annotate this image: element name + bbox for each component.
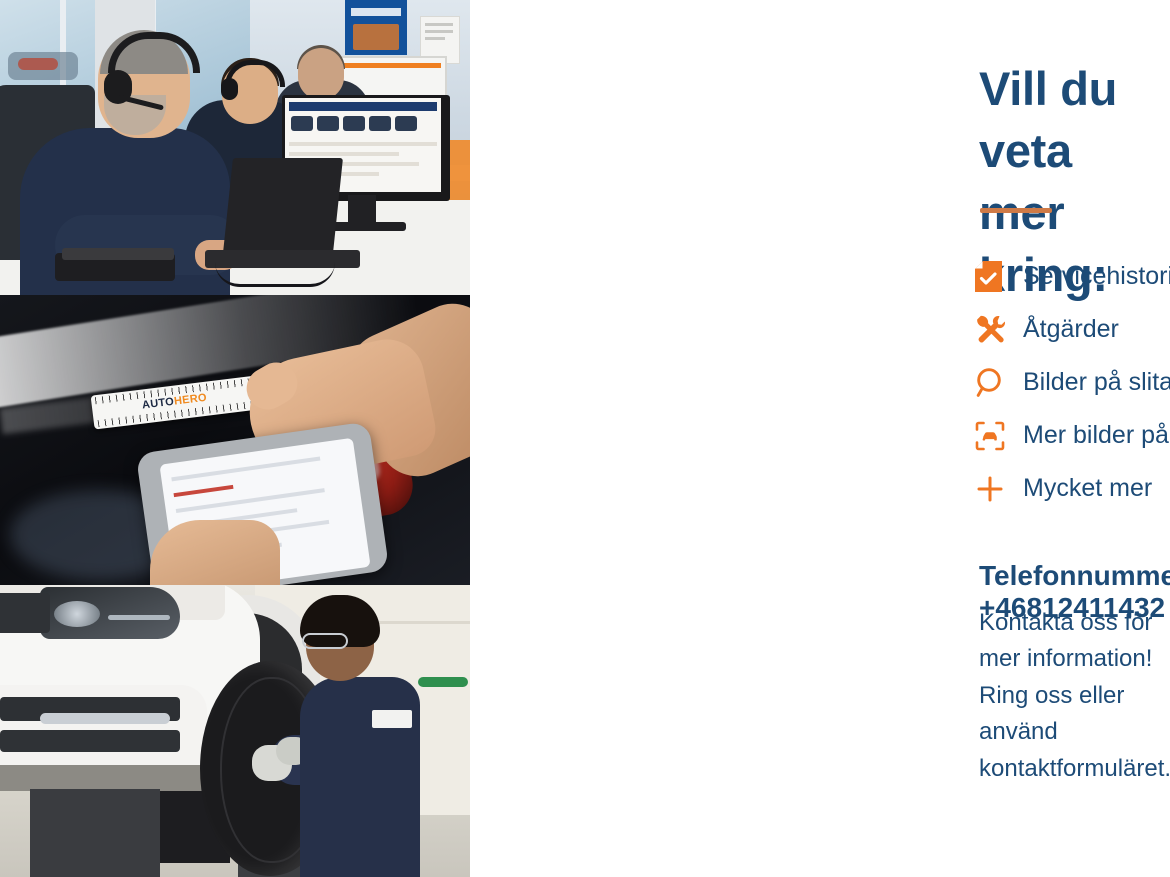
service-history-checklist-icon xyxy=(975,261,1023,292)
feature-label: Åtgärder xyxy=(1023,315,1119,344)
photo-inspection: AUTOHERO xyxy=(0,295,470,585)
ruler-brand-hero: HERO xyxy=(173,392,207,408)
feature-item-atgarder: Åtgärder xyxy=(975,303,1170,356)
feature-item-bilder-pa-slitage: Bilder på slitage xyxy=(975,356,1170,409)
title-divider xyxy=(980,208,1052,213)
feature-list: Servicehistoriken Åtgärder xyxy=(975,250,1170,515)
plus-icon xyxy=(975,474,1023,504)
contact-instructions: Kontakta oss för mer information! Ring o… xyxy=(979,605,1170,787)
promo-banner: AUTOHERO xyxy=(0,0,1170,877)
feature-label: Mycket mer xyxy=(1023,474,1152,503)
photo-column: AUTOHERO xyxy=(0,0,470,877)
feature-label: Servicehistoriken xyxy=(1023,262,1170,291)
feature-label: Mer bilder på bilen xyxy=(1023,421,1170,450)
photo-tyre-change xyxy=(0,585,470,877)
crossed-tools-icon xyxy=(975,314,1023,345)
feature-item-mer-bilder-pa-bilen: Mer bilder på bilen xyxy=(975,409,1170,462)
feature-item-servicehistoriken: Servicehistoriken xyxy=(975,250,1170,303)
ruler-brand-auto: AUTO xyxy=(141,396,174,412)
feature-item-mycket-mer: Mycket mer xyxy=(975,462,1170,515)
content-panel: Vill du veta mer kring: Vi berättar gärn… xyxy=(470,0,1170,877)
car-scan-frame-icon xyxy=(975,421,1023,451)
photo-call-center xyxy=(0,0,470,295)
feature-label: Bilder på slitage xyxy=(1023,368,1170,397)
magnifier-icon xyxy=(975,367,1023,398)
